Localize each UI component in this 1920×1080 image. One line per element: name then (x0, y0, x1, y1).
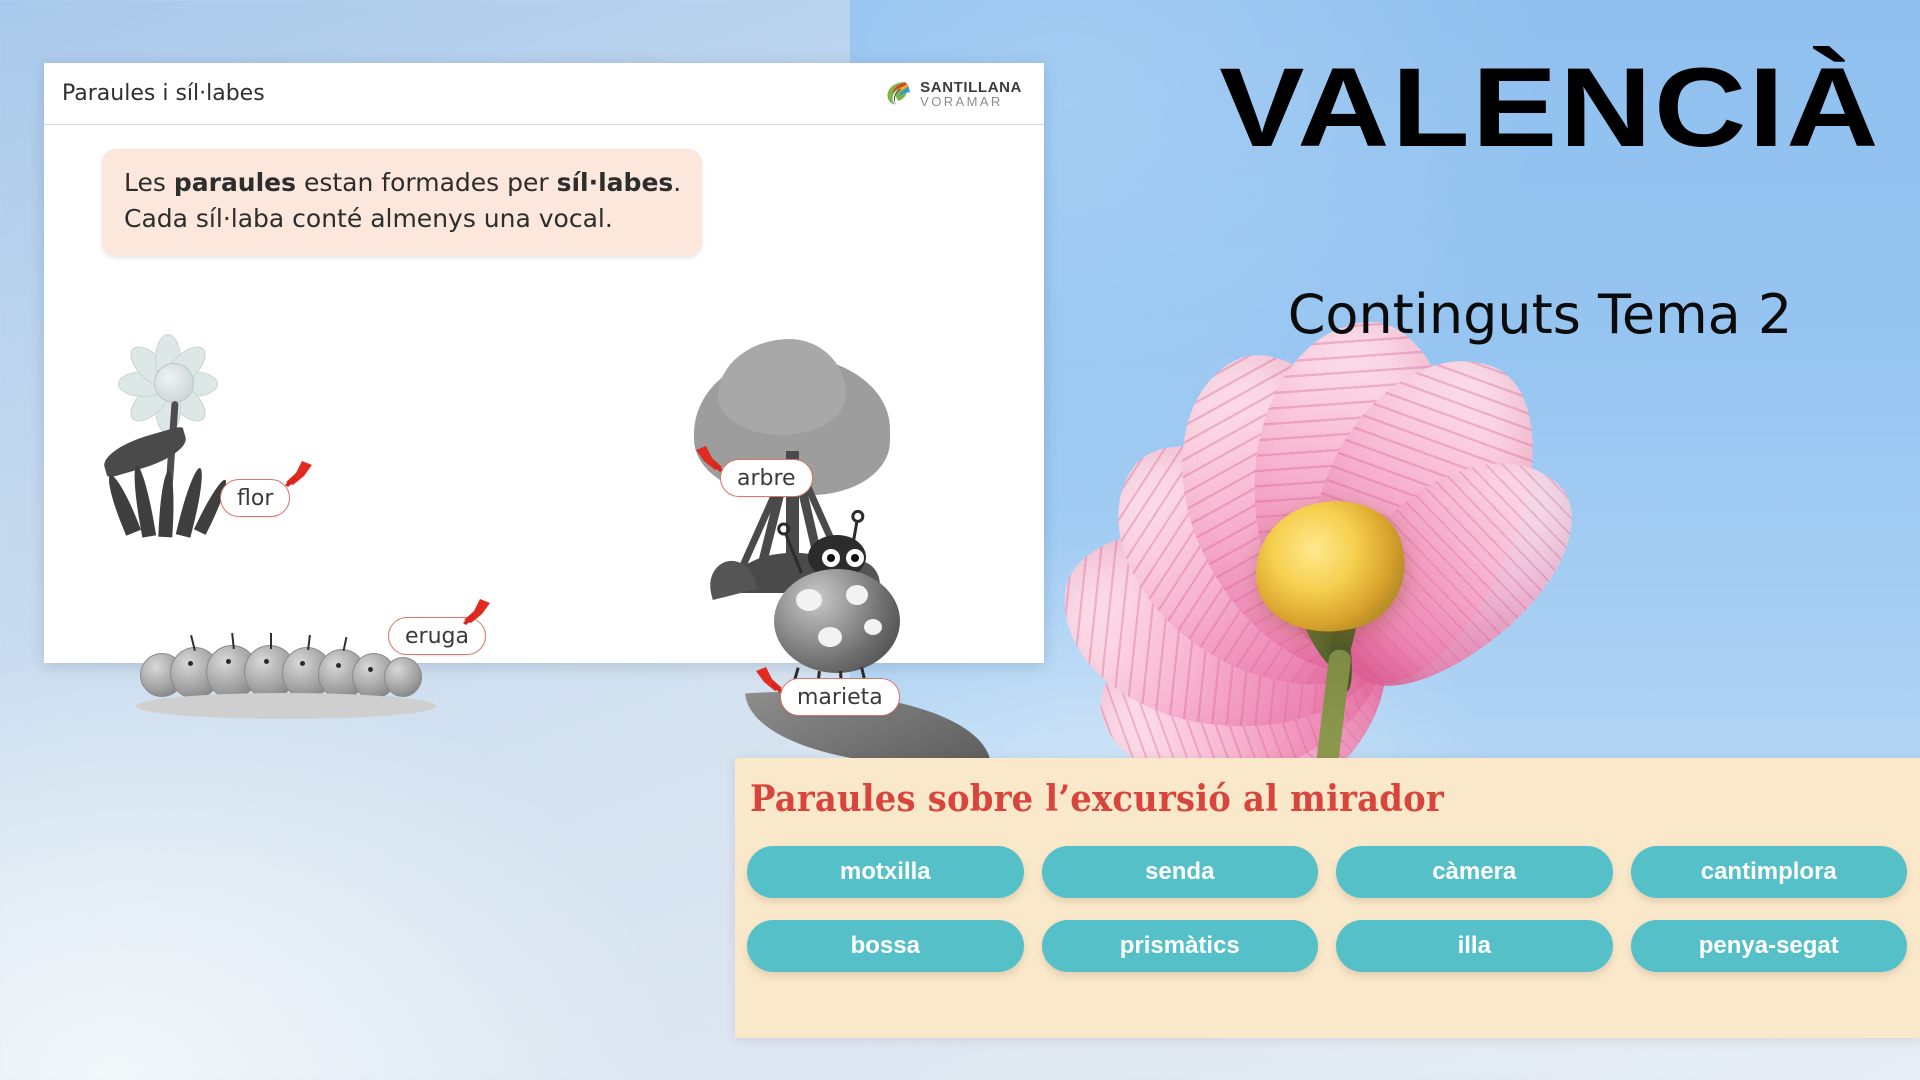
definition-line-1: Les paraules estan formades per síl·labe… (124, 165, 680, 201)
word-chip-senda[interactable]: senda (1042, 846, 1319, 898)
slide-body: Les paraules estan formades per síl·labe… (44, 125, 1044, 663)
word-chip-motxilla[interactable]: motxilla (747, 846, 1024, 898)
slide-title: Paraules i síl·labes (62, 81, 265, 106)
caterpillar-shadow (136, 693, 436, 719)
ladybug-body (774, 569, 900, 673)
santillana-leaf-icon (883, 79, 913, 109)
definition-text-a: Les (124, 168, 174, 197)
callout-arbre[interactable]: arbre (720, 459, 813, 497)
slide-header: Paraules i síl·labes SANTILLANA VORAMAR (44, 63, 1044, 125)
tree-crown-top (718, 339, 846, 435)
definition-bold-paraules: paraules (174, 168, 296, 197)
callout-arbre-label: arbre (737, 466, 796, 491)
callout-eruga-label: eruga (405, 624, 469, 649)
ladybug-spot (864, 619, 882, 635)
definition-bold-sillabes: síl·labes (557, 168, 674, 197)
pin-icon-eruga (460, 593, 494, 627)
callout-flor-label: flor (237, 486, 273, 511)
ladybug-spot (818, 627, 842, 647)
vocabulary-panel: Paraules sobre l’excursió al mirador mot… (735, 758, 1920, 1038)
page-title: VALENCIÀ (1151, 52, 1920, 164)
lesson-slide-card: Paraules i síl·labes SANTILLANA VORAMAR (44, 63, 1044, 663)
pin-icon-flor (282, 455, 316, 489)
caterpillar-dot (300, 661, 305, 666)
ladybug-spot (796, 589, 822, 611)
ladybug-eye (846, 549, 864, 567)
caterpillar-dot (336, 663, 341, 668)
definition-line-2: Cada síl·laba conté almenys una vocal. (124, 201, 680, 237)
caterpillar-head (384, 657, 422, 697)
word-chip-prismatics[interactable]: prismàtics (1042, 920, 1319, 972)
definition-text-e: . (673, 168, 681, 197)
caterpillar-bristle (270, 633, 272, 649)
callout-flor[interactable]: flor (220, 479, 290, 517)
vocabulary-chip-grid: motxilla senda càmera cantimplora bossa … (747, 846, 1907, 972)
grass-blade (158, 471, 175, 538)
caterpillar-bristle (231, 633, 235, 649)
daisy-center (154, 363, 194, 403)
definition-box: Les paraules estan formades per síl·labe… (102, 149, 702, 256)
callout-marieta-label: marieta (797, 685, 883, 710)
caterpillar-dot (226, 659, 231, 664)
definition-text-c: estan formades per (296, 168, 557, 197)
vocabulary-panel-heading: Paraules sobre l’excursió al mirador (750, 778, 1444, 820)
caterpillar-dot (188, 661, 193, 666)
caterpillar-dot (264, 659, 269, 664)
publisher-logo: SANTILLANA VORAMAR (883, 79, 1022, 109)
brand-text: SANTILLANA VORAMAR (920, 80, 1022, 108)
word-chip-camera[interactable]: càmera (1336, 846, 1613, 898)
brand-name: SANTILLANA (920, 80, 1022, 95)
callout-marieta[interactable]: marieta (780, 678, 900, 716)
word-chip-bossa[interactable]: bossa (747, 920, 1024, 972)
word-chip-cantimplora[interactable]: cantimplora (1631, 846, 1908, 898)
page-subtitle: Continguts Tema 2 (1170, 285, 1910, 344)
caterpillar-dot (368, 667, 373, 672)
word-chip-illa[interactable]: illa (1336, 920, 1613, 972)
leaf (100, 426, 191, 479)
word-chip-penya-segat[interactable]: penya-segat (1631, 920, 1908, 972)
ladybug-spot (846, 585, 868, 605)
ladybug-eye (822, 549, 840, 567)
brand-subname: VORAMAR (920, 95, 1022, 108)
